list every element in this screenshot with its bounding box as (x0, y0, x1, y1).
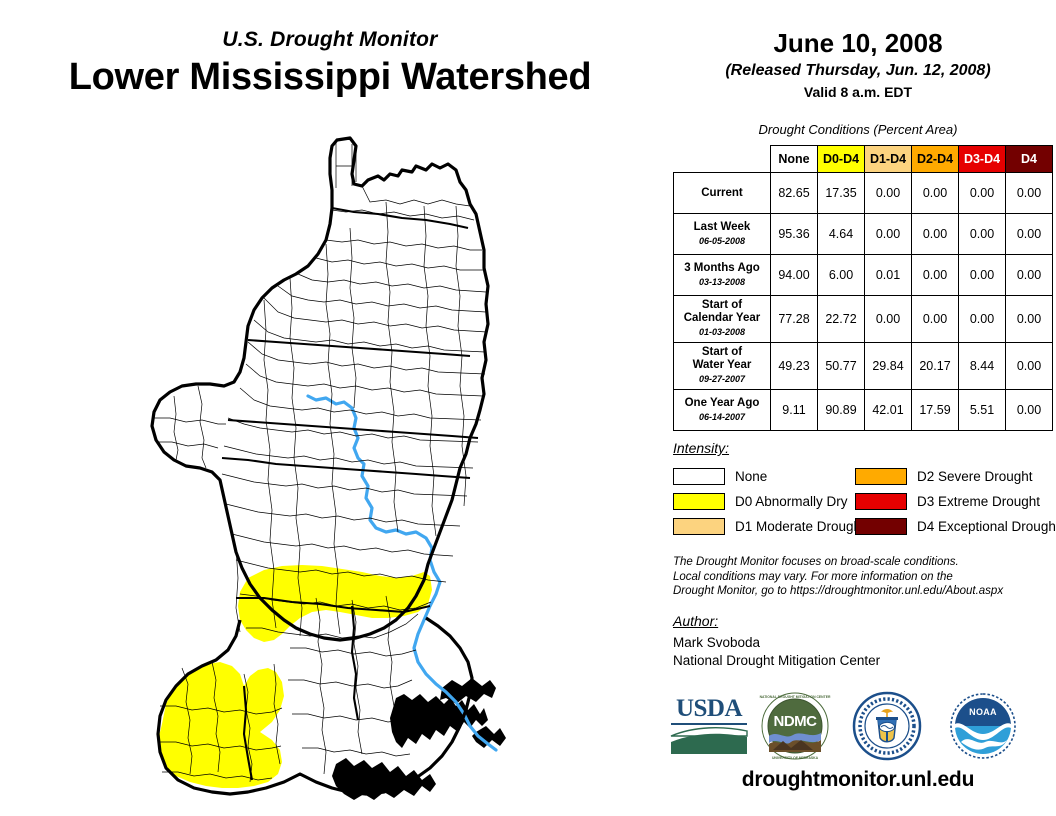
lower-mississippi-watershed-drought-map (140, 128, 520, 800)
disclaimer-line-2: Local conditions may vary. For more info… (673, 570, 1053, 585)
cell-d0-d4: 6.00 (818, 255, 865, 296)
drought-conditions-table: None D0-D4 D1-D4 D2-D4 D3-D4 D4 Current8… (673, 145, 1053, 431)
release-date: (Released Thursday, Jun. 12, 2008) (660, 62, 1056, 80)
table-corner-cell (674, 146, 771, 173)
cell-d1-d4: 29.84 (865, 343, 912, 390)
cell-d4: 0.00 (1006, 343, 1053, 390)
page-title: Lower Mississippi Watershed (0, 56, 660, 99)
legend-swatch (855, 518, 907, 535)
table-row: Start ofCalendar Year01-03-200877.2822.7… (674, 296, 1053, 343)
map-container (140, 128, 520, 800)
department-of-commerce-seal-logo (851, 690, 923, 762)
table-body: Current82.6517.350.000.000.000.00Last We… (674, 173, 1053, 431)
table-row: 3 Months Ago03-13-200894.006.000.010.000… (674, 255, 1053, 296)
author-name: Mark Svoboda (673, 634, 880, 652)
legend-swatch (855, 493, 907, 510)
website-url: droughtmonitor.unl.edu (660, 768, 1056, 792)
cell-d4: 0.00 (1006, 255, 1053, 296)
legend-item: D1 Moderate Drought (673, 514, 865, 538)
cell-none: 82.65 (771, 173, 818, 214)
intensity-legend-title: Intensity: (673, 440, 729, 456)
cell-d3-d4: 5.51 (959, 390, 1006, 431)
cell-d4: 0.00 (1006, 214, 1053, 255)
svg-text:NOAA: NOAA (969, 707, 997, 717)
cell-d2-d4: 20.17 (912, 343, 959, 390)
cell-d0-d4: 90.89 (818, 390, 865, 431)
row-date: 09-27-2007 (676, 373, 768, 386)
row-label: Current (674, 173, 771, 214)
cell-d3-d4: 8.44 (959, 343, 1006, 390)
disclaimer-line-1: The Drought Monitor focuses on broad-sca… (673, 555, 1053, 570)
cell-d3-d4: 0.00 (959, 173, 1006, 214)
column-header-d3-d4: D3-D4 (959, 146, 1006, 173)
row-label: 3 Months Ago03-13-2008 (674, 255, 771, 296)
cell-d4: 0.00 (1006, 173, 1053, 214)
row-date: 06-14-2007 (676, 411, 768, 424)
legend-item: D3 Extreme Drought (855, 489, 1056, 513)
cell-d3-d4: 0.00 (959, 296, 1006, 343)
cell-none: 77.28 (771, 296, 818, 343)
legend-column-right: D2 Severe DroughtD3 Extreme DroughtD4 Ex… (855, 464, 1056, 539)
column-header-d4: D4 (1006, 146, 1053, 173)
cell-d1-d4: 0.00 (865, 296, 912, 343)
cell-d3-d4: 0.00 (959, 255, 1006, 296)
cell-d1-d4: 0.00 (865, 214, 912, 255)
table-header-row: None D0-D4 D1-D4 D2-D4 D3-D4 D4 (674, 146, 1053, 173)
cell-d0-d4: 4.64 (818, 214, 865, 255)
cell-none: 94.00 (771, 255, 818, 296)
author-block: Mark Svoboda National Drought Mitigation… (673, 634, 880, 670)
cell-d4: 0.00 (1006, 296, 1053, 343)
column-header-d1-d4: D1-D4 (865, 146, 912, 173)
legend-label: D0 Abnormally Dry (735, 494, 848, 509)
cell-d0-d4: 50.77 (818, 343, 865, 390)
row-date: 01-03-2008 (676, 326, 768, 339)
author-organization: National Drought Mitigation Center (673, 652, 880, 670)
title-block: U.S. Drought Monitor Lower Mississippi W… (0, 28, 660, 99)
partner-logos: USDA NDMC NATIONAL DROUGHT MITIGATION CE… (665, 690, 1050, 762)
cell-d2-d4: 0.00 (912, 255, 959, 296)
table-caption: Drought Conditions (Percent Area) (660, 122, 1056, 137)
ndmc-logo: NDMC NATIONAL DROUGHT MITIGATION CENTER … (759, 690, 831, 762)
row-label: One Year Ago06-14-2007 (674, 390, 771, 431)
legend-label: D3 Extreme Drought (917, 494, 1040, 509)
valid-time: Valid 8 a.m. EDT (660, 84, 1056, 100)
column-header-d0-d4: D0-D4 (818, 146, 865, 173)
legend-label: D4 Exceptional Drought (917, 519, 1056, 534)
row-label: Start ofCalendar Year01-03-2008 (674, 296, 771, 343)
column-header-d2-d4: D2-D4 (912, 146, 959, 173)
svg-text:NATIONAL DROUGHT MITIGATION CE: NATIONAL DROUGHT MITIGATION CENTER (760, 695, 831, 699)
row-date: 06-05-2008 (676, 235, 768, 248)
legend-label: D2 Severe Drought (917, 469, 1033, 484)
cell-d1-d4: 0.01 (865, 255, 912, 296)
usda-logo: USDA (669, 690, 749, 756)
table-row: One Year Ago06-14-20079.1190.8942.0117.5… (674, 390, 1053, 431)
disclaimer-text: The Drought Monitor focuses on broad-sca… (673, 555, 1053, 599)
cell-d2-d4: 0.00 (912, 214, 959, 255)
row-date: 03-13-2008 (676, 276, 768, 289)
cell-d1-d4: 42.01 (865, 390, 912, 431)
legend-item: D0 Abnormally Dry (673, 489, 865, 513)
row-label: Start ofWater Year09-27-2007 (674, 343, 771, 390)
date-block: June 10, 2008 (Released Thursday, Jun. 1… (660, 28, 1056, 100)
cell-d2-d4: 0.00 (912, 296, 959, 343)
legend-swatch (673, 493, 725, 510)
cell-d3-d4: 0.00 (959, 214, 1006, 255)
legend-swatch (855, 468, 907, 485)
cell-d1-d4: 0.00 (865, 173, 912, 214)
row-label: Last Week06-05-2008 (674, 214, 771, 255)
cell-d4: 0.00 (1006, 390, 1053, 431)
legend-swatch (673, 518, 725, 535)
cell-none: 95.36 (771, 214, 818, 255)
table-row: Last Week06-05-200895.364.640.000.000.00… (674, 214, 1053, 255)
drought-monitor-kicker: U.S. Drought Monitor (0, 28, 660, 52)
cell-d0-d4: 22.72 (818, 296, 865, 343)
cell-d2-d4: 0.00 (912, 173, 959, 214)
disclaimer-line-3: Drought Monitor, go to https://droughtmo… (673, 584, 1053, 599)
cell-none: 49.23 (771, 343, 818, 390)
table-row: Current82.6517.350.000.000.000.00 (674, 173, 1053, 214)
cell-d0-d4: 17.35 (818, 173, 865, 214)
map-date: June 10, 2008 (660, 28, 1056, 59)
watershed-none-area (152, 138, 488, 640)
legend-item: D2 Severe Drought (855, 464, 1056, 488)
cell-none: 9.11 (771, 390, 818, 431)
cell-d2-d4: 17.59 (912, 390, 959, 431)
legend-swatch (673, 468, 725, 485)
legend-item: None (673, 464, 865, 488)
author-label: Author: (673, 613, 718, 629)
table-row: Start ofWater Year09-27-200749.2350.7729… (674, 343, 1053, 390)
legend-label: None (735, 469, 767, 484)
legend-label: D1 Moderate Drought (735, 519, 865, 534)
legend-column-left: NoneD0 Abnormally DryD1 Moderate Drought (673, 464, 865, 539)
noaa-logo: NOAA (947, 690, 1019, 762)
column-header-none: None (771, 146, 818, 173)
svg-text:UNIVERSITY OF NEBRASKA: UNIVERSITY OF NEBRASKA (772, 756, 819, 760)
svg-text:NDMC: NDMC (774, 713, 818, 730)
svg-text:USDA: USDA (676, 695, 743, 722)
legend-item: D4 Exceptional Drought (855, 514, 1056, 538)
